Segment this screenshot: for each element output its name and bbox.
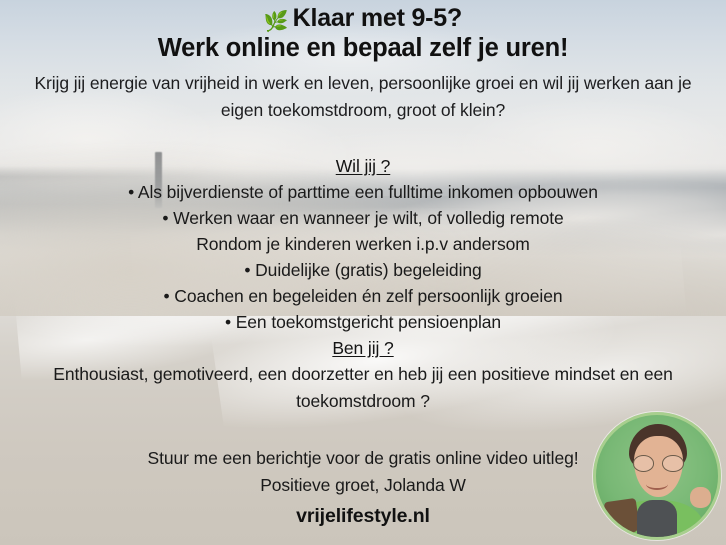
subtitle: Krijg jij energie van vrijheid in werk e… xyxy=(0,63,726,124)
avatar xyxy=(593,412,721,540)
wants-list: • Als bijverdienste of parttime een full… xyxy=(0,179,726,335)
are-you-paragraph: Enthousiast, gemotiveerd, een doorzetter… xyxy=(0,361,726,415)
are-you-paragraph-line-2: toekomstdroom ? xyxy=(14,388,712,415)
promo-poster: 🌿Klaar met 9-5? Werk online en bepaal ze… xyxy=(0,0,726,545)
list-item: • Werken waar en wanneer je wilt, of vol… xyxy=(0,205,726,231)
list-item: • Een toekomstgericht pensioenplan xyxy=(0,309,726,335)
list-item: • Coachen en begeleiden én zelf persoonl… xyxy=(0,283,726,309)
list-item: Rondom je kinderen werken i.p.v andersom xyxy=(0,231,726,257)
leaf-icon: 🌿 xyxy=(264,12,289,32)
are-you-section-heading: Ben jij ? xyxy=(0,335,726,361)
headline-line-2: Werk online en bepaal zelf je uren! xyxy=(0,33,726,63)
avatar-mug xyxy=(604,498,640,536)
headline-line-1: 🌿Klaar met 9-5? xyxy=(0,0,726,33)
list-item: • Duidelijke (gratis) begeleiding xyxy=(0,257,726,283)
avatar-hand xyxy=(690,487,711,508)
wants-section-heading: Wil jij ? xyxy=(0,153,726,179)
subtitle-line-2: eigen toekomstdroom, groot of klein? xyxy=(0,97,726,124)
subtitle-line-1: Krijg jij energie van vrijheid in werk e… xyxy=(0,70,726,97)
glasses-icon xyxy=(633,455,684,470)
are-you-section-heading-text: Ben jij ? xyxy=(332,338,393,358)
headline-line-1-text: Klaar met 9-5? xyxy=(293,4,463,32)
spacer-1 xyxy=(0,124,726,153)
are-you-paragraph-line-1: Enthousiast, gemotiveerd, een doorzetter… xyxy=(14,361,712,388)
avatar-scarf xyxy=(637,500,676,537)
list-item: • Als bijverdienste of parttime een full… xyxy=(0,179,726,205)
wants-section-heading-text: Wil jij ? xyxy=(336,156,391,176)
